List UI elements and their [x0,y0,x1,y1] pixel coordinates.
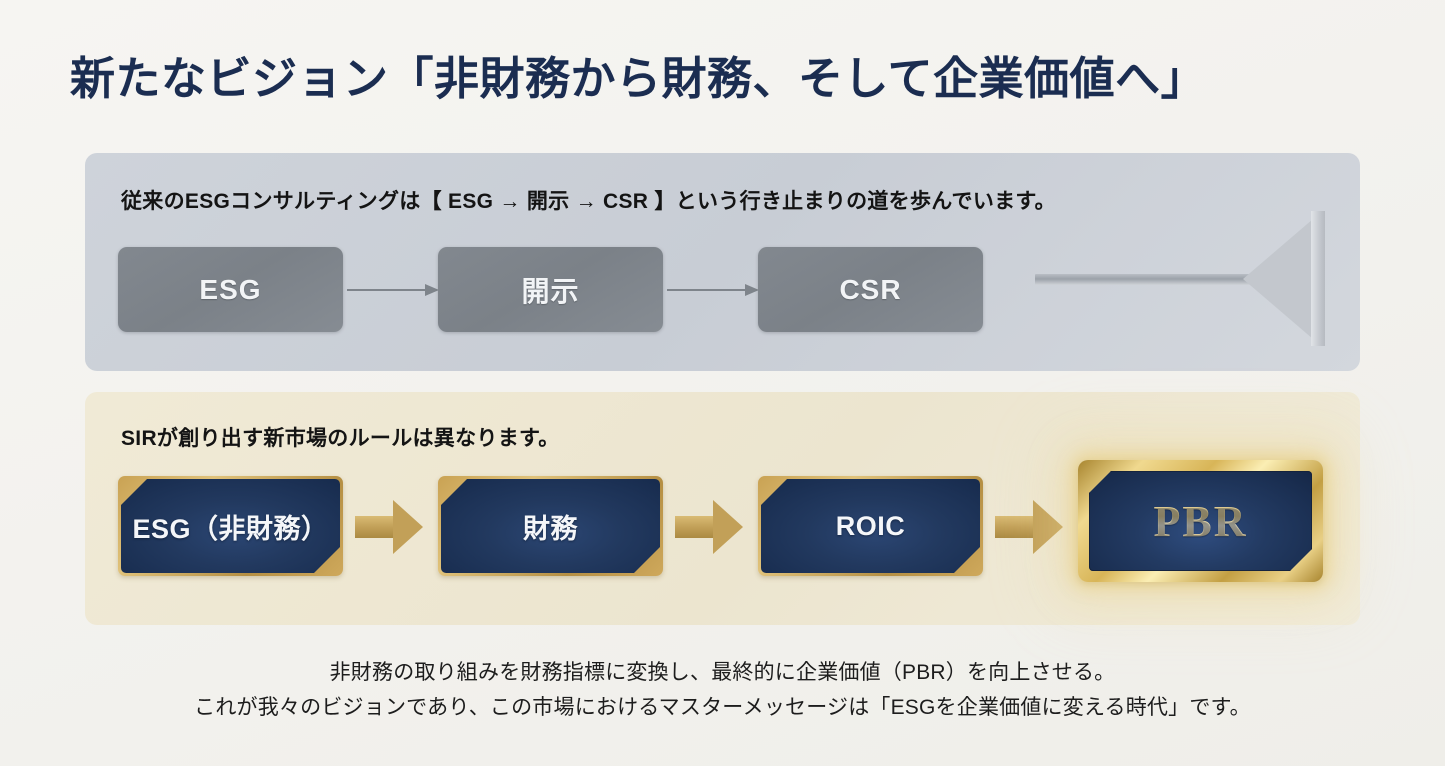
flow-node-roic[interactable]: ROIC [758,476,983,576]
flow-node-inner: ROIC [761,479,980,573]
arrow-right-thin-icon [347,286,439,294]
flow-node-label: PBR [1154,496,1248,547]
dead-end-triangle [1173,219,1313,339]
flow-node-label: ESG [199,274,261,306]
flow-node-label: CSR [839,274,901,306]
footer-line-2: これが我々のビジョンであり、この市場におけるマスターメッセージは「ESGを企業価… [0,690,1445,725]
arrow-head [745,284,759,296]
flow-node-esg-nonfinancial[interactable]: ESG（非財務） [118,476,343,576]
footer-line-1: 非財務の取り組みを財務指標に変換し、最終的に企業価値（PBR）を向上させる。 [0,655,1445,690]
slide-canvas: 新たなビジョン「非財務から財務、そして企業価値へ」 従来のESGコンサルティング… [0,0,1445,766]
flow-node-inner: 財務 [441,479,660,573]
arrow-head [393,500,423,554]
flow-node-inner: ESG（非財務） [121,479,340,573]
arrow-right-bold-gold-icon [675,500,743,554]
flow-node-csr[interactable]: CSR [758,247,983,332]
flow-node-label: ESG（非財務） [132,507,328,546]
sir-flow-row: ESG（非財務） 財務 ROIC [85,392,1360,625]
legacy-flow-row: ESG 開示 CSR [85,153,1360,371]
flow-node-pbr-highlighted[interactable]: PBR [1078,460,1323,582]
flow-node-esg[interactable]: ESG [118,247,343,332]
footer-caption: 非財務の取り組みを財務指標に変換し、最終的に企業価値（PBR）を向上させる。 こ… [0,655,1445,726]
flow-node-inner: PBR [1089,471,1312,571]
flow-node-label: 開示 [521,270,579,310]
arrow-right-thin-icon [667,286,759,294]
dead-end-wall [1311,211,1325,346]
arrow-head [713,500,743,554]
flow-node-label: 財務 [523,507,578,546]
arrow-body [355,516,395,538]
arrow-body [675,516,715,538]
flow-node-label: ROIC [836,511,906,542]
arrow-shaft [667,289,745,291]
arrow-right-bold-gold-icon [995,500,1063,554]
arrow-body [995,516,1035,538]
sir-value-panel: SIRが創り出す新市場のルールは異なります。 ESG（非財務） 財務 [85,392,1360,625]
dead-end-wall-icon [1035,211,1325,346]
arrow-right-bold-gold-icon [355,500,423,554]
arrow-head [425,284,439,296]
arrow-head [1033,500,1063,554]
arrow-shaft [347,289,425,291]
legacy-esg-panel: 従来のESGコンサルティングは【 ESG → 開示 → CSR 】という行き止ま… [85,153,1360,371]
page-title: 新たなビジョン「非財務から財務、そして企業価値へ」 [70,42,1206,107]
flow-node-financial[interactable]: 財務 [438,476,663,576]
flow-node-disclosure[interactable]: 開示 [438,247,663,332]
